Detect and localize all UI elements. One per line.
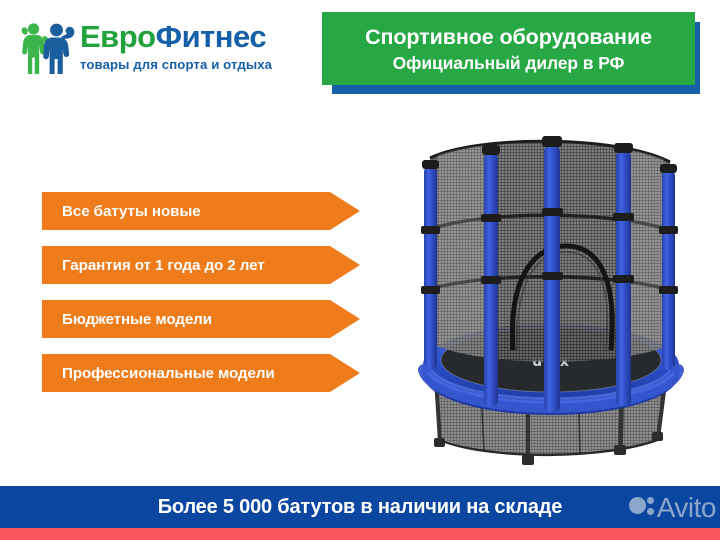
brand-wordmark-part1: Евро — [80, 19, 156, 54]
feature-arrow: Все батуты новые — [42, 192, 360, 230]
brand-tagline: товары для спорта и отдыха — [80, 57, 320, 73]
feature-label: Все батуты новые — [42, 203, 201, 220]
feature-arrow: Гарантия от 1 года до 2 лет — [42, 246, 360, 284]
avito-watermark: Avito — [629, 488, 716, 528]
header-banner: Спортивное оборудование Официальный диле… — [322, 12, 695, 85]
feature-label: Гарантия от 1 года до 2 лет — [42, 257, 265, 274]
feature-arrow: Профессиональные модели — [42, 354, 360, 392]
brand-wordmark-part2: Фитнес — [156, 19, 267, 54]
avito-logo-icon — [629, 495, 655, 521]
bottom-banner-text: Более 5 000 батутов в наличии на складе — [158, 496, 562, 519]
header-banner-line1: Спортивное оборудование — [365, 23, 652, 51]
feature-arrow: Бюджетные модели — [42, 300, 360, 338]
header-banner-line2: Официальный дилер в РФ — [393, 51, 625, 75]
feature-list: Все батуты новые Гарантия от 1 года до 2… — [42, 192, 360, 408]
brand-wordmark: ЕвроФитнес — [80, 18, 320, 56]
brand-logo: ЕвроФитнес товары для спорта и отдыха — [18, 18, 318, 84]
trampoline-product-image: unix — [408, 122, 708, 470]
feature-label: Профессиональные модели — [42, 365, 275, 382]
brand-text: ЕвроФитнес товары для спорта и отдыха — [80, 18, 320, 73]
feature-label: Бюджетные модели — [42, 311, 212, 328]
bottom-accent-bar — [0, 528, 720, 540]
avito-watermark-text: Avito — [657, 494, 716, 522]
fitness-figures-icon — [18, 20, 80, 74]
bottom-banner: Более 5 000 батутов в наличии на складе — [0, 486, 720, 528]
